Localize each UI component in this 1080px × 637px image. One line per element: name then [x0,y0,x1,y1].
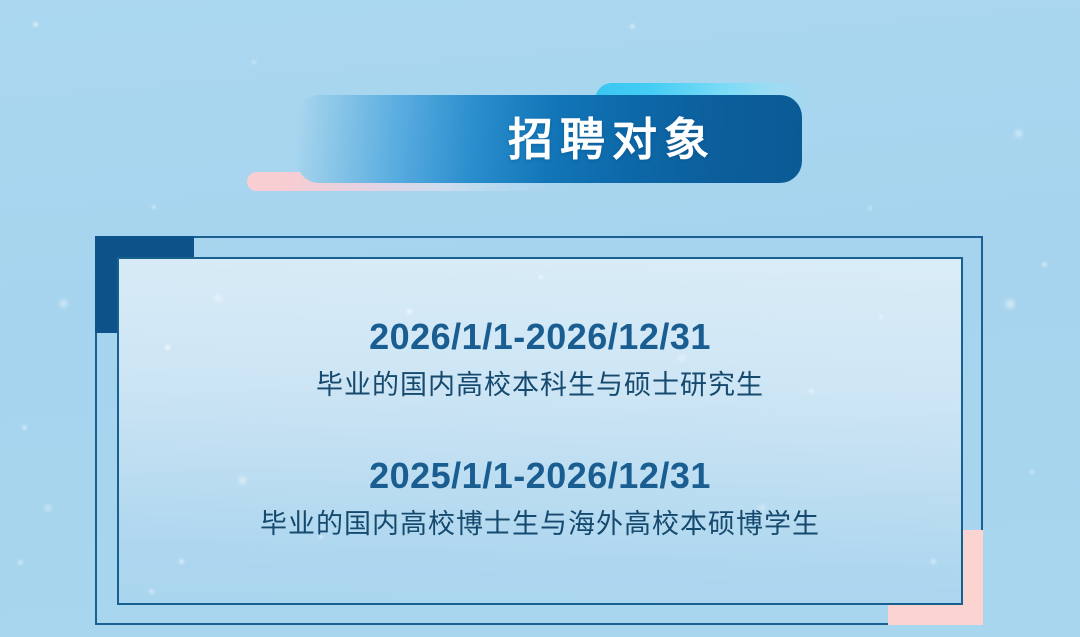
card-inner-panel: 2026/1/1-2026/12/31 毕业的国内高校本科生与硕士研究生 202… [117,257,963,605]
recruitment-target-list: 2026/1/1-2026/12/31 毕业的国内高校本科生与硕士研究生 202… [119,318,961,540]
sparkle-dot [931,559,936,564]
sparkle-dot [1030,470,1034,474]
sparkle-dot [252,60,256,64]
sparkle-dot [1042,262,1047,267]
sparkle-dot [1006,300,1014,308]
sparkle-dot [18,560,23,565]
sparkle-dot [1015,130,1022,137]
sparkle-dot [407,309,412,314]
sparkle-dot [215,295,221,301]
sparkle-dot [152,205,156,209]
sparkle-dot [22,425,27,430]
banner-main-plate: 招聘对象 [297,95,802,183]
entry-date-range: 2026/1/1-2026/12/31 [369,318,711,356]
content-card: 2026/1/1-2026/12/31 毕业的国内高校本科生与硕士研究生 202… [95,236,983,625]
entry-date-range: 2025/1/1-2026/12/31 [369,457,711,495]
sparkle-dot [60,300,67,307]
header-banner: 招聘对象 [240,72,820,197]
entry-description: 毕业的国内高校本科生与硕士研究生 [316,370,764,401]
sparkle-dot [45,505,51,511]
recruitment-target-entry: 2025/1/1-2026/12/31 毕业的国内高校博士生与海外高校本硕博学生 [260,457,820,540]
recruitment-poster: 招聘对象 [0,0,1080,637]
sparkle-dot [149,589,154,594]
sparkle-dot [179,559,184,564]
recruitment-target-entry: 2026/1/1-2026/12/31 毕业的国内高校本科生与硕士研究生 [316,318,764,401]
sparkle-dot [33,22,38,27]
sparkle-dot [630,24,635,29]
sparkle-dot [868,206,872,210]
entry-description: 毕业的国内高校博士生与海外高校本硕博学生 [260,509,820,540]
page-title: 招聘对象 [383,117,716,162]
sparkle-dot [539,275,543,279]
